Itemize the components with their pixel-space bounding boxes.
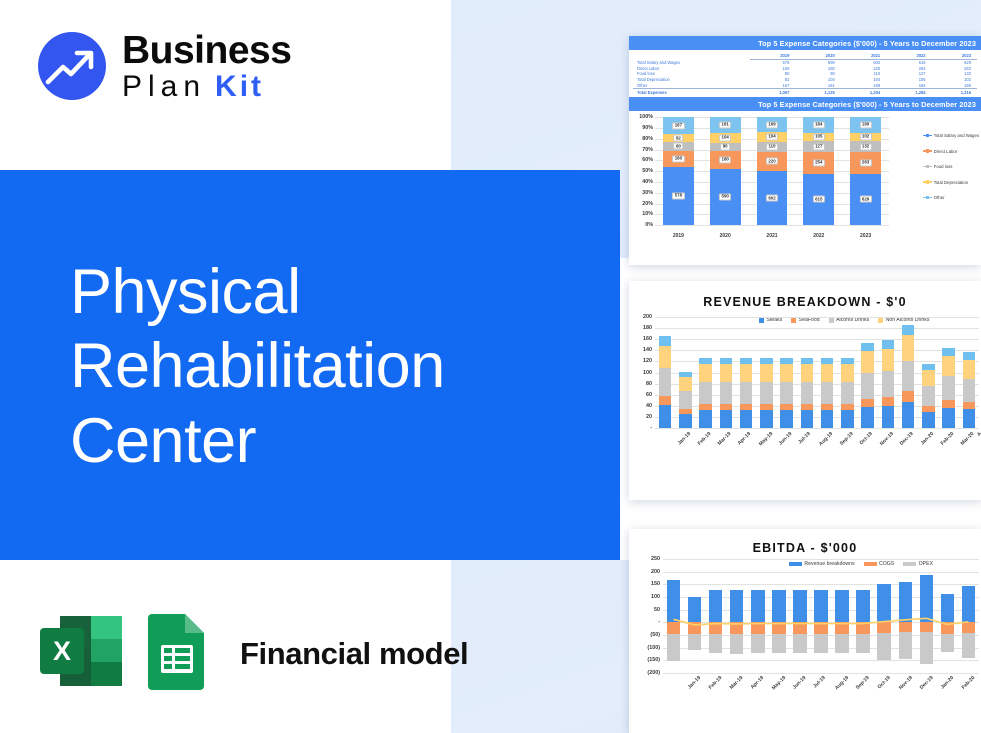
- axis-tick-label: 30%: [642, 190, 653, 196]
- bar-segment: [679, 391, 692, 409]
- expenses-bar-group: 1678280160578161104901805901691041102206…: [655, 117, 889, 225]
- bar-segment: [801, 358, 814, 365]
- axis-tick-label: (100): [647, 645, 660, 651]
- axis-tick-label: Oct-19: [858, 431, 873, 446]
- axis-tick-label: 100%: [639, 114, 653, 120]
- axis-tick-label: 50%: [642, 168, 653, 174]
- stacked-bar: [939, 317, 959, 428]
- stacked-bar: [837, 317, 857, 428]
- bar-value-label: 263: [860, 159, 872, 166]
- bar-segment: [679, 377, 692, 391]
- ebitda-trend-line: [663, 559, 979, 673]
- bar-value-label: 602: [766, 195, 778, 202]
- page-title-line-1: Physical: [70, 255, 590, 329]
- axis-tick-label: Jan-19: [687, 675, 702, 690]
- axis-tick-label: Jun-19: [778, 431, 794, 447]
- stacked-bar: [736, 317, 756, 428]
- bar-segment: [821, 382, 834, 404]
- bar-segment: [902, 402, 915, 428]
- bar-segment: [902, 391, 915, 402]
- format-badges: X Financial model: [38, 612, 468, 695]
- legend-swatch: [923, 197, 932, 198]
- axis-tick-label: 80: [646, 381, 652, 387]
- bar-segment: 82: [663, 134, 694, 142]
- axis-tick-label: (50): [650, 632, 660, 638]
- legend-swatch: [923, 135, 932, 136]
- axis-tick-label: 80%: [642, 136, 653, 142]
- bar-segment: 104: [757, 132, 788, 141]
- axis-tick-label: Jul-19: [797, 431, 811, 445]
- bar-segment: [922, 412, 935, 428]
- axis-tick-label: 2019: [655, 233, 702, 239]
- bar-segment: [659, 368, 672, 396]
- legend-swatch: [923, 166, 932, 167]
- axis-tick-label: Jan-20: [919, 431, 934, 446]
- revenue-chart-title: REVENUE BREAKDOWN - $'0: [629, 295, 981, 309]
- bar-segment: [882, 406, 895, 428]
- bar-value-label: 161: [719, 121, 731, 128]
- bar-segment: [659, 346, 672, 368]
- stacked-bar: [918, 317, 938, 428]
- bar-segment: [861, 343, 874, 351]
- axis-tick-label: May-19: [758, 431, 774, 447]
- axis-tick-label: -: [658, 619, 660, 625]
- bar-segment: 161: [710, 117, 741, 132]
- axis-tick-label: A: [976, 431, 981, 438]
- bar-segment: [801, 404, 814, 411]
- svg-text:X: X: [53, 636, 71, 666]
- bar-value-label: 220: [766, 158, 778, 165]
- bar-segment: [902, 325, 915, 335]
- bar-value-label: 578: [672, 192, 684, 199]
- bar-segment: [882, 349, 895, 371]
- bar-segment: 80: [663, 142, 694, 150]
- bar-segment: 104: [710, 133, 741, 143]
- bar-segment: 180: [710, 151, 741, 168]
- page-title-line-3: Center: [70, 404, 590, 478]
- axis-tick-label: Jan-19: [676, 431, 691, 446]
- bar-segment: [841, 358, 854, 365]
- bar-segment: 169: [757, 117, 788, 132]
- axis-tick-label: (150): [647, 657, 660, 663]
- stacked-bar: [655, 317, 675, 428]
- bar-segment: [882, 340, 895, 348]
- bar-segment: 578: [663, 167, 694, 226]
- bar-segment: 102: [850, 133, 881, 141]
- bar-segment: [760, 404, 773, 411]
- axis-tick-label: Oct-19: [876, 675, 891, 690]
- logo-word-kit: Kit: [215, 72, 264, 102]
- axis-tick-label: 40%: [642, 179, 653, 185]
- bar-segment: [780, 382, 793, 404]
- axis-tick-label: Sep-19: [855, 675, 871, 691]
- bar-segment: 602: [757, 171, 788, 225]
- axis-tick-label: Nov-19: [898, 675, 914, 691]
- axis-tick-label: 60: [646, 392, 652, 398]
- bar-segment: 590: [710, 169, 741, 226]
- page-title-line-2: Rehabilitation: [70, 329, 590, 403]
- axis-tick-label: 180: [643, 325, 652, 331]
- axis-tick-label: Mar-19: [729, 675, 745, 691]
- logo-word-plan: Plan: [122, 72, 206, 102]
- ebitda-chart-title: EBITDA - $'000: [629, 541, 981, 555]
- bar-segment: [861, 407, 874, 428]
- bar-segment: [760, 410, 773, 428]
- stacked-bar: [959, 317, 979, 428]
- axis-tick-label: 60%: [642, 157, 653, 163]
- bar-segment: [841, 382, 854, 404]
- axis-tick-label: May-19: [771, 675, 787, 691]
- bar-segment: 160: [663, 151, 694, 167]
- bar-segment: [780, 358, 793, 365]
- legend-label: Total Salary and Wages: [934, 133, 979, 138]
- legend-item: Other: [923, 195, 979, 200]
- axis-tick-label: Dec-19: [899, 431, 915, 447]
- legend-item: Total Salary and Wages: [923, 133, 979, 138]
- bar-segment: 127: [803, 141, 834, 152]
- preview-panel-revenue[interactable]: REVENUE BREAKDOWN - $'0 SteaksSeaFoodAlc…: [629, 281, 981, 500]
- bar-segment: 110: [757, 142, 788, 152]
- bar-segment: 90: [710, 143, 741, 152]
- bar-segment: [963, 402, 976, 409]
- bar-segment: 254: [803, 152, 834, 173]
- axis-tick-label: 200: [651, 569, 660, 575]
- preview-panel-ebitda[interactable]: EBITDA - $'000 Revenue breakdownsCOGSOPE…: [629, 529, 981, 733]
- bar-segment: [740, 410, 753, 428]
- axis-tick-label: Nov-19: [879, 431, 895, 447]
- expenses-total-cell: 1,125: [795, 89, 840, 95]
- axis-tick-label: (200): [647, 670, 660, 676]
- bar-segment: [821, 410, 834, 428]
- bar-segment: [922, 386, 935, 406]
- bar-segment: 615: [803, 174, 834, 226]
- axis-tick-label: Apr-19: [750, 675, 765, 690]
- expenses-stacked-chart[interactable]: 100%90%80%70%60%50%40%30%20%10%0% 167828…: [629, 111, 981, 241]
- expenses-total-cell: 1,204: [841, 89, 886, 95]
- bar-value-label: 104: [719, 134, 731, 141]
- bar-value-label: 254: [813, 159, 825, 166]
- bar-segment: [963, 360, 976, 379]
- axis-tick-label: -: [650, 425, 652, 431]
- expenses-x-axis: 20192020202120222023: [655, 233, 889, 239]
- legend-item: Total Depreciation: [923, 180, 979, 185]
- bar-value-label: 90: [720, 143, 730, 150]
- stacked-bar: [817, 317, 837, 428]
- bar-segment: [821, 404, 834, 411]
- bar-segment: [780, 404, 793, 411]
- bar-value-label: 180: [719, 156, 731, 163]
- expenses-total-cell: 1,067: [750, 89, 795, 95]
- expenses-total-row: Total Expenses1,0671,1251,2041,2841,316: [633, 89, 977, 95]
- bar-value-label: 629: [860, 196, 872, 203]
- expenses-chart-title: Top 5 Expense Categories ($'000) - 5 Yea…: [629, 97, 981, 111]
- axis-tick-label: 2020: [702, 233, 749, 239]
- bar-segment: [942, 348, 955, 356]
- legend-swatch: [923, 181, 932, 182]
- bar-segment: [699, 404, 712, 411]
- axis-tick-label: 40: [646, 403, 652, 409]
- bar-value-label: 160: [672, 155, 684, 162]
- stacked-bar: [777, 317, 797, 428]
- axis-tick-label: 20%: [642, 201, 653, 207]
- stacked-bar: [696, 317, 716, 428]
- axis-tick-label: 70%: [642, 147, 653, 153]
- bar-segment: [841, 364, 854, 382]
- axis-tick-label: 100: [643, 370, 652, 376]
- bar-segment: [922, 370, 935, 386]
- bar-segment: [760, 364, 773, 382]
- axis-tick-label: 200: [643, 314, 652, 320]
- stacked-bar: 184105127254615: [795, 117, 842, 225]
- growth-chart-circle-icon: [36, 30, 108, 102]
- axis-tick-label: 140: [643, 347, 652, 353]
- bar-segment: [882, 397, 895, 406]
- bar-segment: [861, 399, 874, 407]
- bar-segment: 629: [850, 174, 881, 226]
- bar-value-label: 132: [860, 143, 872, 150]
- axis-tick-label: 160: [643, 336, 652, 342]
- bar-segment: [821, 358, 834, 365]
- legend-item: Direct Labor: [923, 149, 979, 154]
- bar-segment: [942, 356, 955, 376]
- revenue-bar-group: [655, 317, 979, 428]
- axis-tick-label: 90%: [642, 125, 653, 131]
- axis-tick-label: Dec-19: [918, 675, 934, 691]
- bar-segment: [699, 410, 712, 428]
- axis-tick-label: 250: [651, 556, 660, 562]
- expenses-table: 20192020202120222023 Total Salary and Wa…: [633, 53, 977, 95]
- bar-segment: [760, 382, 773, 404]
- expenses-total-cell: 1,316: [932, 89, 977, 95]
- bar-segment: [720, 410, 733, 428]
- axis-tick-label: Sep-19: [838, 431, 854, 447]
- bar-segment: [659, 336, 672, 345]
- bar-segment: [740, 382, 753, 404]
- bar-value-label: 80: [674, 143, 684, 150]
- bar-segment: [720, 364, 733, 382]
- bar-segment: [801, 364, 814, 382]
- bar-segment: [801, 382, 814, 404]
- bar-value-label: 615: [813, 196, 825, 203]
- bar-segment: [882, 371, 895, 397]
- axis-tick-label: 10%: [642, 211, 653, 217]
- bar-segment: [861, 373, 874, 399]
- bar-segment: [740, 358, 753, 365]
- axis-tick-label: Mar-19: [717, 431, 733, 447]
- bar-value-label: 167: [672, 122, 684, 129]
- bar-segment: [942, 376, 955, 400]
- expenses-legend: Total Salary and WagesDirect LaborFood l…: [923, 133, 979, 211]
- stacked-bar: [858, 317, 878, 428]
- bar-segment: [720, 382, 733, 404]
- bar-segment: [902, 335, 915, 361]
- axis-tick-label: Aug-19: [818, 431, 834, 447]
- legend-swatch: [923, 150, 932, 151]
- bar-segment: [740, 404, 753, 411]
- axis-tick-label: Feb-20: [961, 675, 977, 691]
- axis-tick-label: 2023: [842, 233, 889, 239]
- bar-segment: 190: [850, 117, 881, 133]
- axis-tick-label: 0%: [645, 222, 653, 228]
- legend-item: Food loss: [923, 164, 979, 169]
- bar-segment: [841, 410, 854, 428]
- ebitda-diverging-chart[interactable]: 25020015010050-(50)(100)(150)(200) Jan-1…: [629, 555, 981, 707]
- axis-tick-label: 150: [651, 581, 660, 587]
- bar-value-label: 104: [766, 134, 778, 141]
- stacked-bar: 1678280160578: [655, 117, 702, 225]
- axis-tick-label: Feb-19: [697, 431, 713, 447]
- bar-segment: 167: [663, 117, 694, 134]
- bar-segment: [659, 405, 672, 428]
- bar-segment: 132: [850, 141, 881, 152]
- bar-segment: [760, 358, 773, 365]
- stacked-bar: 169104110220602: [749, 117, 796, 225]
- legend-label: Food loss: [934, 164, 953, 169]
- bar-value-label: 184: [813, 121, 825, 128]
- stacked-bar: [716, 317, 736, 428]
- bar-segment: [679, 414, 692, 428]
- bar-segment: [720, 358, 733, 365]
- preview-panel-expenses[interactable]: Top 5 Expense Categories ($'000) - 5 Yea…: [629, 36, 981, 265]
- bar-value-label: 102: [860, 133, 872, 140]
- page-title: Physical Rehabilitation Center: [70, 255, 590, 478]
- bar-segment: [942, 400, 955, 408]
- axis-tick-label: 20: [646, 414, 652, 420]
- ebitda-x-axis: Jan-19Feb-19Mar-19Apr-19May-19Jun-19Jul-…: [663, 673, 979, 707]
- revenue-x-axis: Jan-19Feb-19Mar-19Apr-19May-19Jun-19Jul-…: [655, 428, 979, 474]
- expenses-table-title: Top 5 Expense Categories ($'000) - 5 Yea…: [629, 36, 981, 50]
- bar-segment: [780, 364, 793, 382]
- bar-value-label: 82: [674, 135, 684, 142]
- axis-tick-label: Jun-19: [792, 675, 808, 691]
- stacked-bar: [797, 317, 817, 428]
- axis-tick-label: 2021: [749, 233, 796, 239]
- legend-label: Other: [934, 195, 945, 200]
- bar-segment: [963, 409, 976, 428]
- bar-value-label: 190: [860, 122, 872, 129]
- bar-segment: [780, 410, 793, 428]
- stacked-bar: [756, 317, 776, 428]
- google-sheets-icon: [146, 612, 208, 695]
- axis-tick-label: 120: [643, 358, 652, 364]
- legend-label: Direct Labor: [934, 149, 957, 154]
- revenue-stacked-chart[interactable]: 20018016014012010080604020- Jan-19Feb-19…: [629, 309, 981, 474]
- legend-label: Total Depreciation: [934, 180, 968, 185]
- bar-segment: 184: [803, 117, 834, 132]
- bar-segment: [801, 410, 814, 428]
- axis-tick-label: Aug-19: [834, 675, 850, 691]
- bar-segment: [861, 351, 874, 373]
- bar-segment: [942, 408, 955, 428]
- microsoft-excel-icon: X: [38, 612, 124, 695]
- bar-value-label: 105: [813, 134, 825, 141]
- stacked-bar: [675, 317, 695, 428]
- stacked-bar: 190102132263629: [842, 117, 889, 225]
- bar-value-label: 169: [766, 121, 778, 128]
- bar-segment: [659, 396, 672, 404]
- expenses-total-cell: 1,284: [886, 89, 931, 95]
- bar-segment: [720, 404, 733, 411]
- bar-segment: 220: [757, 152, 788, 172]
- axis-tick-label: Jul-19: [813, 675, 827, 689]
- axis-tick-label: Feb-20: [940, 431, 956, 447]
- logo-word-business: Business: [122, 31, 291, 70]
- bar-segment: [699, 358, 712, 365]
- bar-segment: [963, 352, 976, 360]
- gridline: [655, 225, 889, 226]
- stacked-bar: [898, 317, 918, 428]
- format-label: Financial model: [240, 636, 468, 672]
- expenses-total-label: Total Expenses: [633, 89, 750, 95]
- axis-tick-label: Feb-19: [708, 675, 724, 691]
- axis-tick-label: 50: [654, 607, 660, 613]
- bar-segment: 263: [850, 152, 881, 174]
- bar-value-label: 110: [766, 143, 778, 150]
- axis-tick-label: 100: [651, 594, 660, 600]
- bar-segment: [740, 364, 753, 382]
- axis-tick-label: Apr-19: [737, 431, 752, 446]
- bar-value-label: 590: [719, 193, 731, 200]
- axis-tick-label: Mar-20: [960, 431, 976, 447]
- axis-tick-label: Jan-20: [939, 675, 954, 690]
- stacked-bar: [878, 317, 898, 428]
- bar-segment: [963, 379, 976, 402]
- stacked-bar: 16110490180590: [702, 117, 749, 225]
- bar-value-label: 127: [813, 143, 825, 150]
- bar-segment: [699, 364, 712, 382]
- bar-segment: [699, 382, 712, 404]
- bar-segment: [841, 404, 854, 411]
- bar-segment: [902, 361, 915, 392]
- brand-logo: Business Plan Kit: [36, 30, 291, 102]
- bar-segment: 105: [803, 133, 834, 142]
- axis-tick-label: 2022: [795, 233, 842, 239]
- bar-segment: [821, 364, 834, 382]
